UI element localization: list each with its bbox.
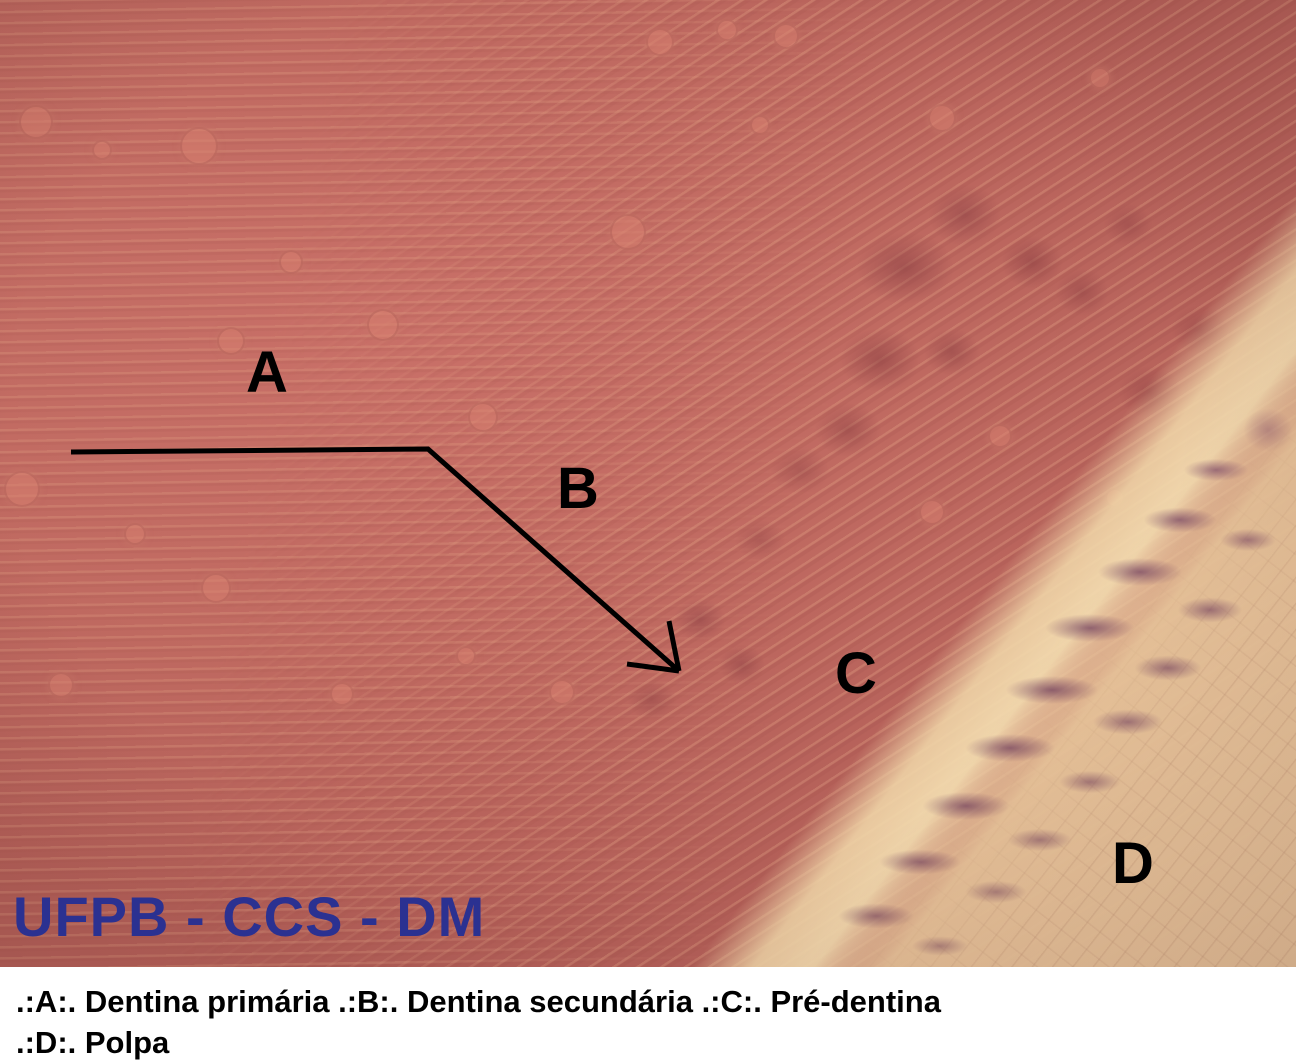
label-d: D bbox=[1112, 835, 1154, 893]
watermark-ufpb: UFPB - CCS - DM bbox=[13, 889, 485, 945]
label-a: A bbox=[246, 344, 288, 402]
label-c: C bbox=[835, 645, 877, 703]
caption-bar: .:A:. Dentina primária .:B:. Dentina sec… bbox=[0, 967, 1296, 1064]
caption-line-2: .:D:. Polpa bbox=[16, 1022, 1296, 1063]
annotation-overlay bbox=[0, 0, 1296, 967]
screenshot-root: A B C D UFPB - CCS - DM .:A:. Dentina pr… bbox=[0, 0, 1296, 1064]
caption-line-1: .:A:. Dentina primária .:B:. Dentina sec… bbox=[16, 981, 1296, 1022]
histology-micrograph: A B C D UFPB - CCS - DM bbox=[0, 0, 1296, 967]
label-b: B bbox=[557, 460, 599, 518]
